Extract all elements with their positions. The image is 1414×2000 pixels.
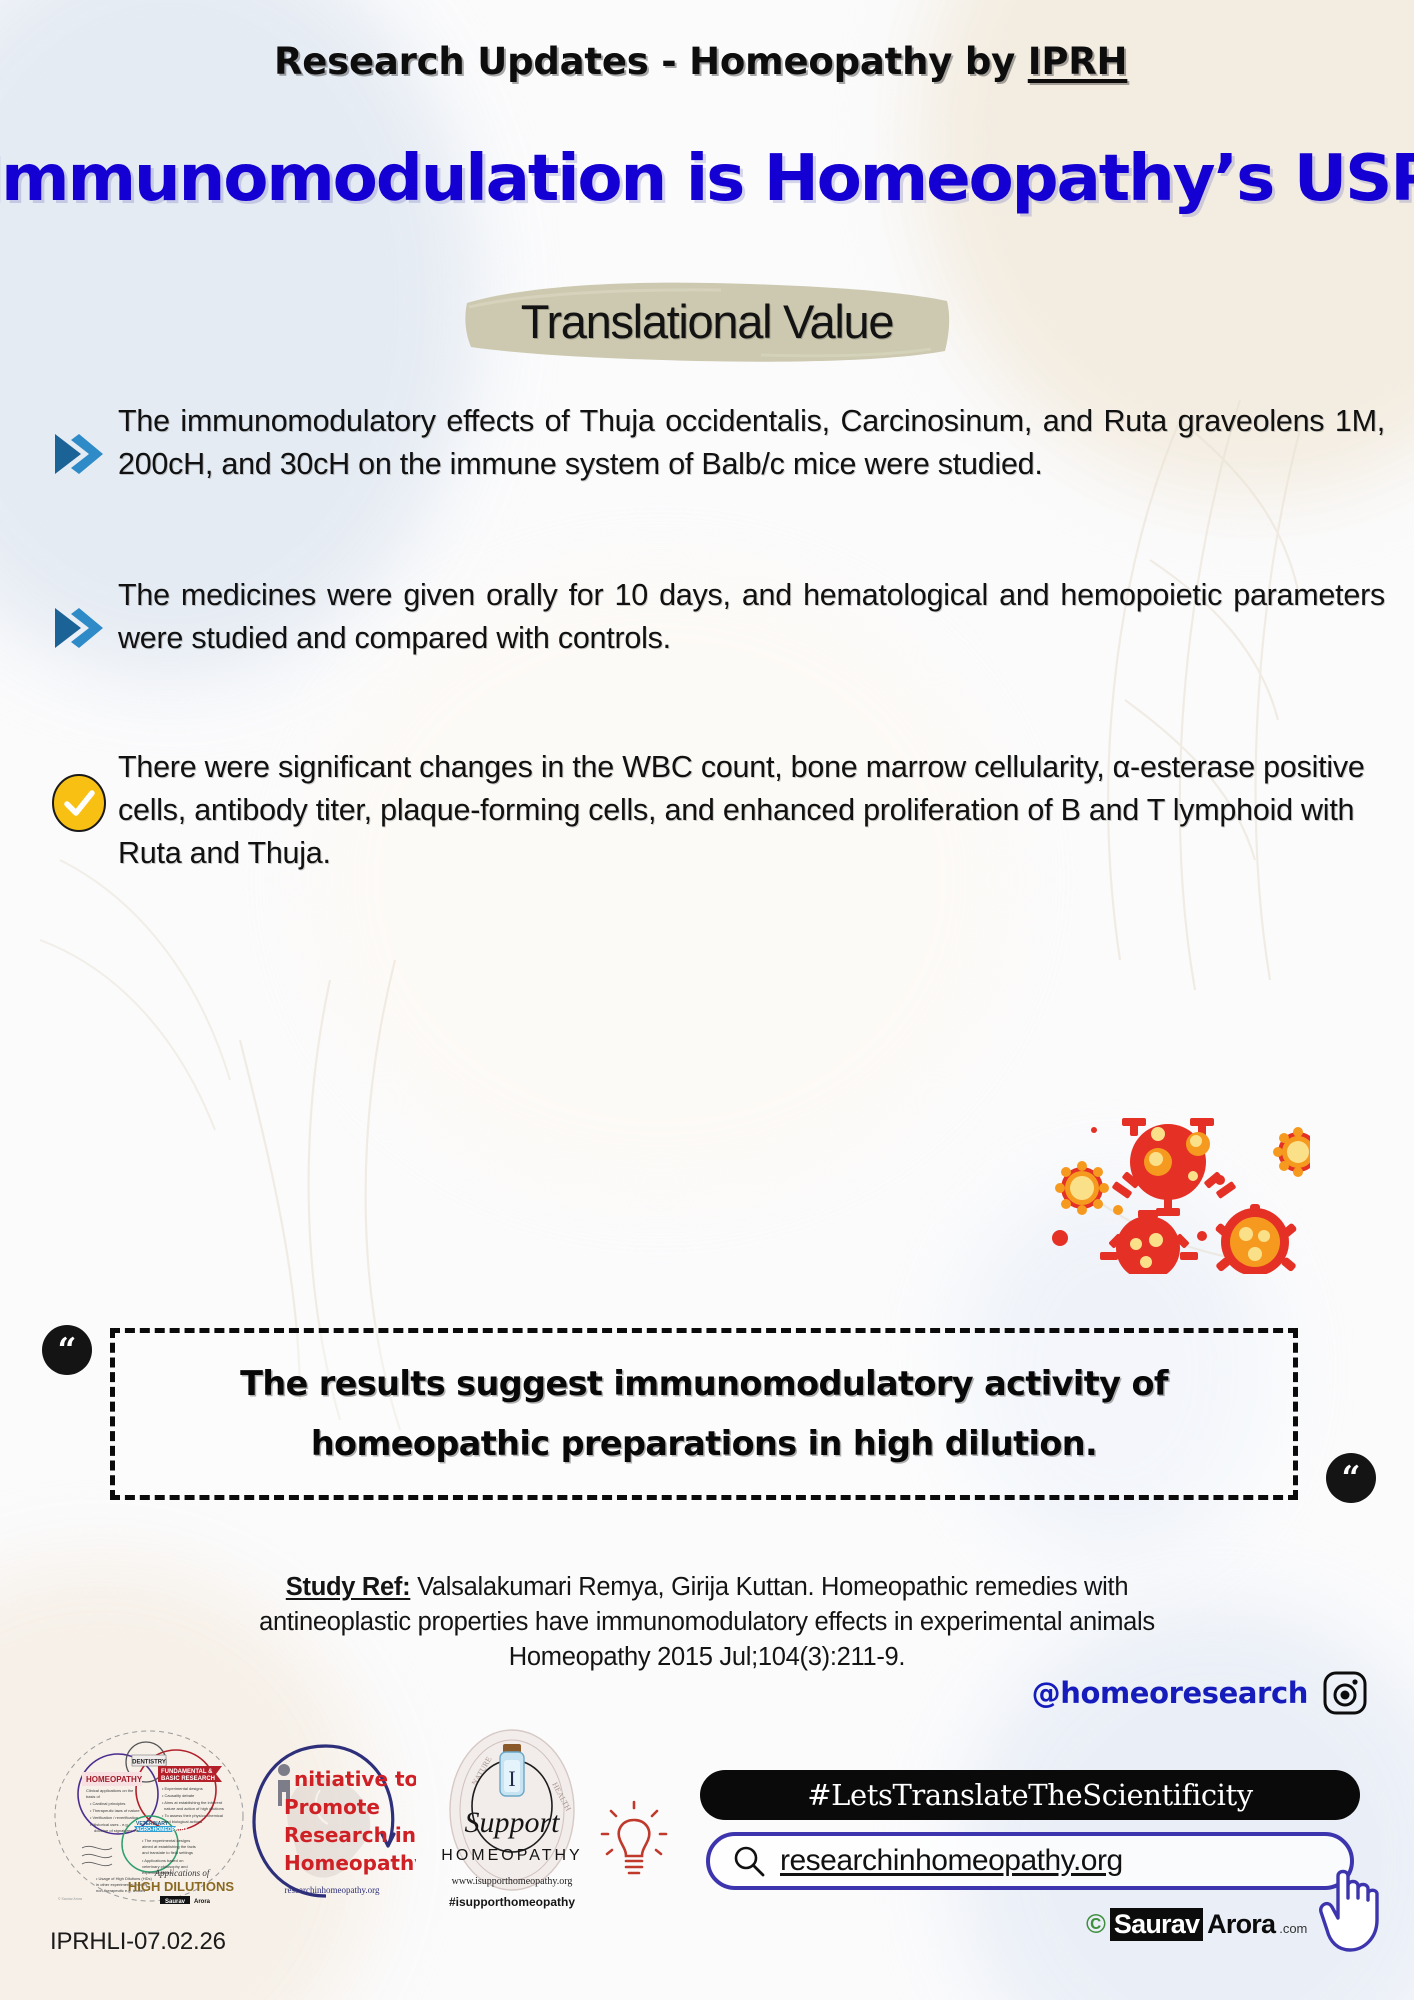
page-header: Research Updates - Homeopathy by IPRH (0, 40, 1414, 83)
svg-text:Clinical applications on the: Clinical applications on the (86, 1788, 134, 1793)
isupport-url: www.isupporthomeopathy.org (452, 1876, 573, 1887)
lightbulb-icon (600, 1798, 668, 1878)
website-url[interactable]: researchinhomeopathy.org (780, 1844, 1123, 1878)
copyright-name: Arora (1207, 1909, 1275, 1940)
section-heading-brush: Translational Value (461, 277, 953, 365)
svg-text:doctrine of signatures etc: doctrine of signatures etc (94, 1828, 139, 1833)
page-footer: DENTISTRY HOMEOPATHY FUNDAMENTAL & BASIC… (0, 1680, 1414, 2000)
study-reference-line-3: Homeopathy 2015 Jul;104(3):211-9. (509, 1643, 905, 1671)
svg-text:• Experimental designs: • Experimental designs (162, 1786, 203, 1791)
iprh-url: researchinhomeopathy.org (285, 1885, 380, 1895)
website-search-bar[interactable]: researchinhomeopathy.org (706, 1832, 1354, 1890)
isupport-word-support: Support (464, 1806, 560, 1839)
svg-text:and translate to field setting: and translate to field settings (142, 1850, 193, 1855)
iprh-line-1: nitiative to (294, 1767, 416, 1791)
list-item-text: The medicines were given orally for 10 d… (118, 574, 1385, 660)
svg-text:© Saurav Arora: © Saurav Arora (58, 1897, 82, 1901)
svg-text:Arora: Arora (194, 1899, 211, 1904)
isupport-letter: I (508, 1766, 515, 1791)
venn-caption-small: Applications of (154, 1868, 211, 1878)
iprh-line-3: Research in (284, 1823, 416, 1847)
isupport-word-homeopathy: HOMEOPATHY (441, 1847, 582, 1864)
study-reference-line-1: Valsalakumari Remya, Girija Kuttan. Home… (410, 1573, 1128, 1601)
venn-label-right-2: BASIC RESEARCH (161, 1776, 215, 1782)
copyright-symbol: © (1086, 1909, 1106, 1940)
page-title: Immunomodulation is Homeopathy’s USP (0, 142, 1414, 216)
list-item-text: There were significant changes in the WB… (118, 746, 1385, 875)
venn-label-top: DENTISTRY (132, 1760, 166, 1766)
iprh-line-2: Promote (284, 1795, 380, 1819)
study-reference-line-2: antineoplastic properties have immunomod… (259, 1608, 1155, 1636)
svg-text:• The experimental designs: • The experimental designs (142, 1838, 190, 1843)
quote-line-1: The results suggest immunomodulatory act… (240, 1354, 1168, 1414)
section-heading-label: Translational Value (521, 294, 893, 349)
svg-text:aimed at establishing the fact: aimed at establishing the facts (142, 1844, 196, 1849)
hashtag-badge: #LetsTranslateTheScientificity (700, 1770, 1360, 1820)
svg-text:Saurav: Saurav (165, 1899, 186, 1904)
check-circle-icon (40, 746, 118, 875)
header-brand: IPRH (1028, 40, 1128, 83)
svg-text:• Causality debate: • Causality debate (162, 1793, 195, 1798)
double-chevron-icon (40, 574, 118, 660)
svg-text:• Verification / reverificatio: • Verification / reverification (90, 1815, 138, 1820)
quote-box: The results suggest immunomodulatory act… (110, 1328, 1298, 1500)
venn-label-bottom-2: AGRO-HOMEOPATHY (136, 1827, 188, 1833)
copyright-brand: Saurav (1110, 1908, 1203, 1941)
virus-illustration-icon (1050, 1114, 1310, 1274)
section-heading-wrap: Translational Value (0, 277, 1414, 365)
iprh-logo[interactable]: nitiative to Promote Research in Homeopa… (236, 1730, 416, 1910)
list-item-text: The immunomodulatory effects of Thuja oc… (118, 400, 1385, 486)
hashtag-text: #LetsTranslateTheScientificity (807, 1778, 1253, 1812)
copyright-mark: © Saurav Arora .com (1086, 1908, 1307, 1941)
svg-text:• Historical uses - e.g.: • Historical uses - e.g. (90, 1822, 129, 1827)
instagram-handle[interactable]: @homeoresearch (1032, 1676, 1308, 1710)
header-kicker: Research Updates - Homeopathy by IPRH (0, 40, 1414, 83)
list-item: The medicines were given orally for 10 d… (40, 574, 1385, 660)
instagram-row[interactable]: @homeoresearch (1032, 1670, 1368, 1716)
svg-text:• Therapeutic laws of nature: • Therapeutic laws of nature (90, 1808, 140, 1813)
svg-text:• Applications based on: • Applications based on (142, 1858, 183, 1863)
quote-mark-open-icon: “ (42, 1325, 92, 1375)
quote-mark-close-icon: “ (1326, 1453, 1376, 1503)
instagram-icon[interactable] (1322, 1670, 1368, 1716)
svg-text:basis of: basis of (86, 1794, 101, 1799)
copyright-tld: .com (1279, 1921, 1307, 1936)
list-item: There were significant changes in the WB… (40, 746, 1385, 875)
venn-label-left: HOMEOPATHY (86, 1775, 143, 1784)
high-dilutions-venn-logo[interactable]: DENTISTRY HOMEOPATHY FUNDAMENTAL & BASIC… (50, 1728, 248, 1904)
header-kicker-text: Research Updates - Homeopathy by (274, 40, 1028, 83)
iprh-line-4: Homeopathy (284, 1851, 416, 1875)
list-item: The immunomodulatory effects of Thuja oc… (40, 400, 1385, 486)
venn-caption-big: HIGH DILUTIONS (128, 1879, 234, 1894)
document-code: IPRHLI-07.02.26 (50, 1928, 226, 1956)
isupport-hashtag: #isupporthomeopathy (449, 1895, 575, 1909)
quote-line-2: homeopathic preparations in high dilutio… (311, 1414, 1097, 1474)
svg-text:and biological actions: and biological actions (164, 1819, 202, 1824)
svg-text:• Cardinal principles: • Cardinal principles (90, 1801, 125, 1806)
study-reference: Study Ref: Valsalakumari Remya, Girija K… (50, 1570, 1364, 1675)
venn-label-right-1: FUNDAMENTAL & (161, 1769, 213, 1775)
svg-text:• To assess their physico-chem: • To assess their physico-chemical (162, 1813, 223, 1818)
isupport-homeopathy-logo[interactable]: NATURE HEALTH I Support HOMEOPATHY www.i… (414, 1724, 610, 1914)
double-chevron-icon (40, 400, 118, 486)
svg-text:nature and action of high dilu: nature and action of high dilutions (164, 1806, 224, 1811)
svg-text:• Aims at establishing the inh: • Aims at establishing the inherent (162, 1800, 223, 1805)
search-icon (732, 1844, 766, 1878)
cursor-hand-icon (1316, 1858, 1394, 1954)
study-reference-label: Study Ref: (286, 1573, 411, 1601)
